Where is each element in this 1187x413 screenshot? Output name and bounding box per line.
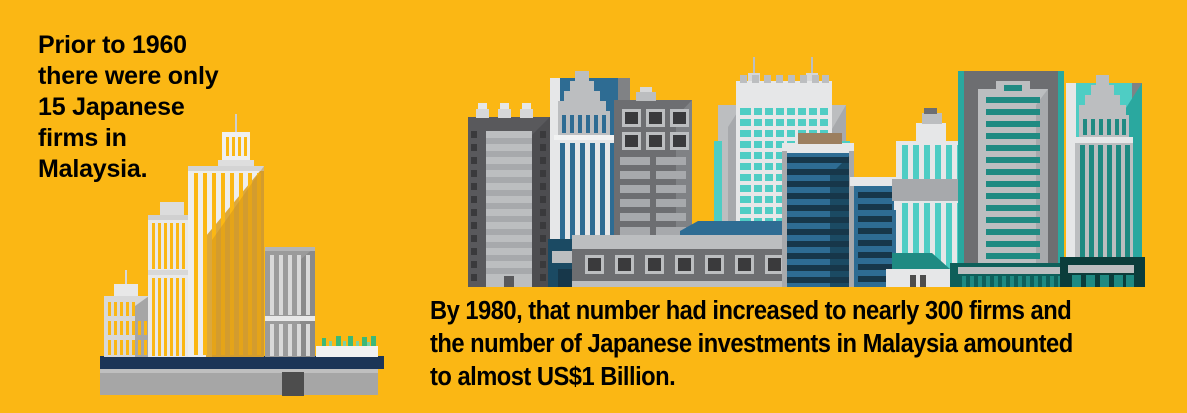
mid-left-tower <box>148 202 194 357</box>
right-gray-tower <box>265 247 315 357</box>
city-skyline-svg <box>430 45 1145 290</box>
city-skyline-illustration <box>430 45 1145 290</box>
base-entrance <box>282 372 304 396</box>
building-right-teal-crown-tower <box>1060 75 1145 287</box>
left-statistic-text: Prior to 1960 there were only 15 Japanes… <box>38 30 288 185</box>
building-dark-gray-block <box>468 103 550 287</box>
platform-bar <box>100 356 384 369</box>
bottom-statistic-text: By 1980, that number had increased to ne… <box>430 295 1109 394</box>
small-left-building <box>104 270 149 357</box>
building-gray-teal-window-tower <box>950 71 1074 287</box>
rooftop-garden <box>316 336 378 357</box>
infographic-canvas: Prior to 1960 there were only 15 Japanes… <box>0 0 1187 413</box>
